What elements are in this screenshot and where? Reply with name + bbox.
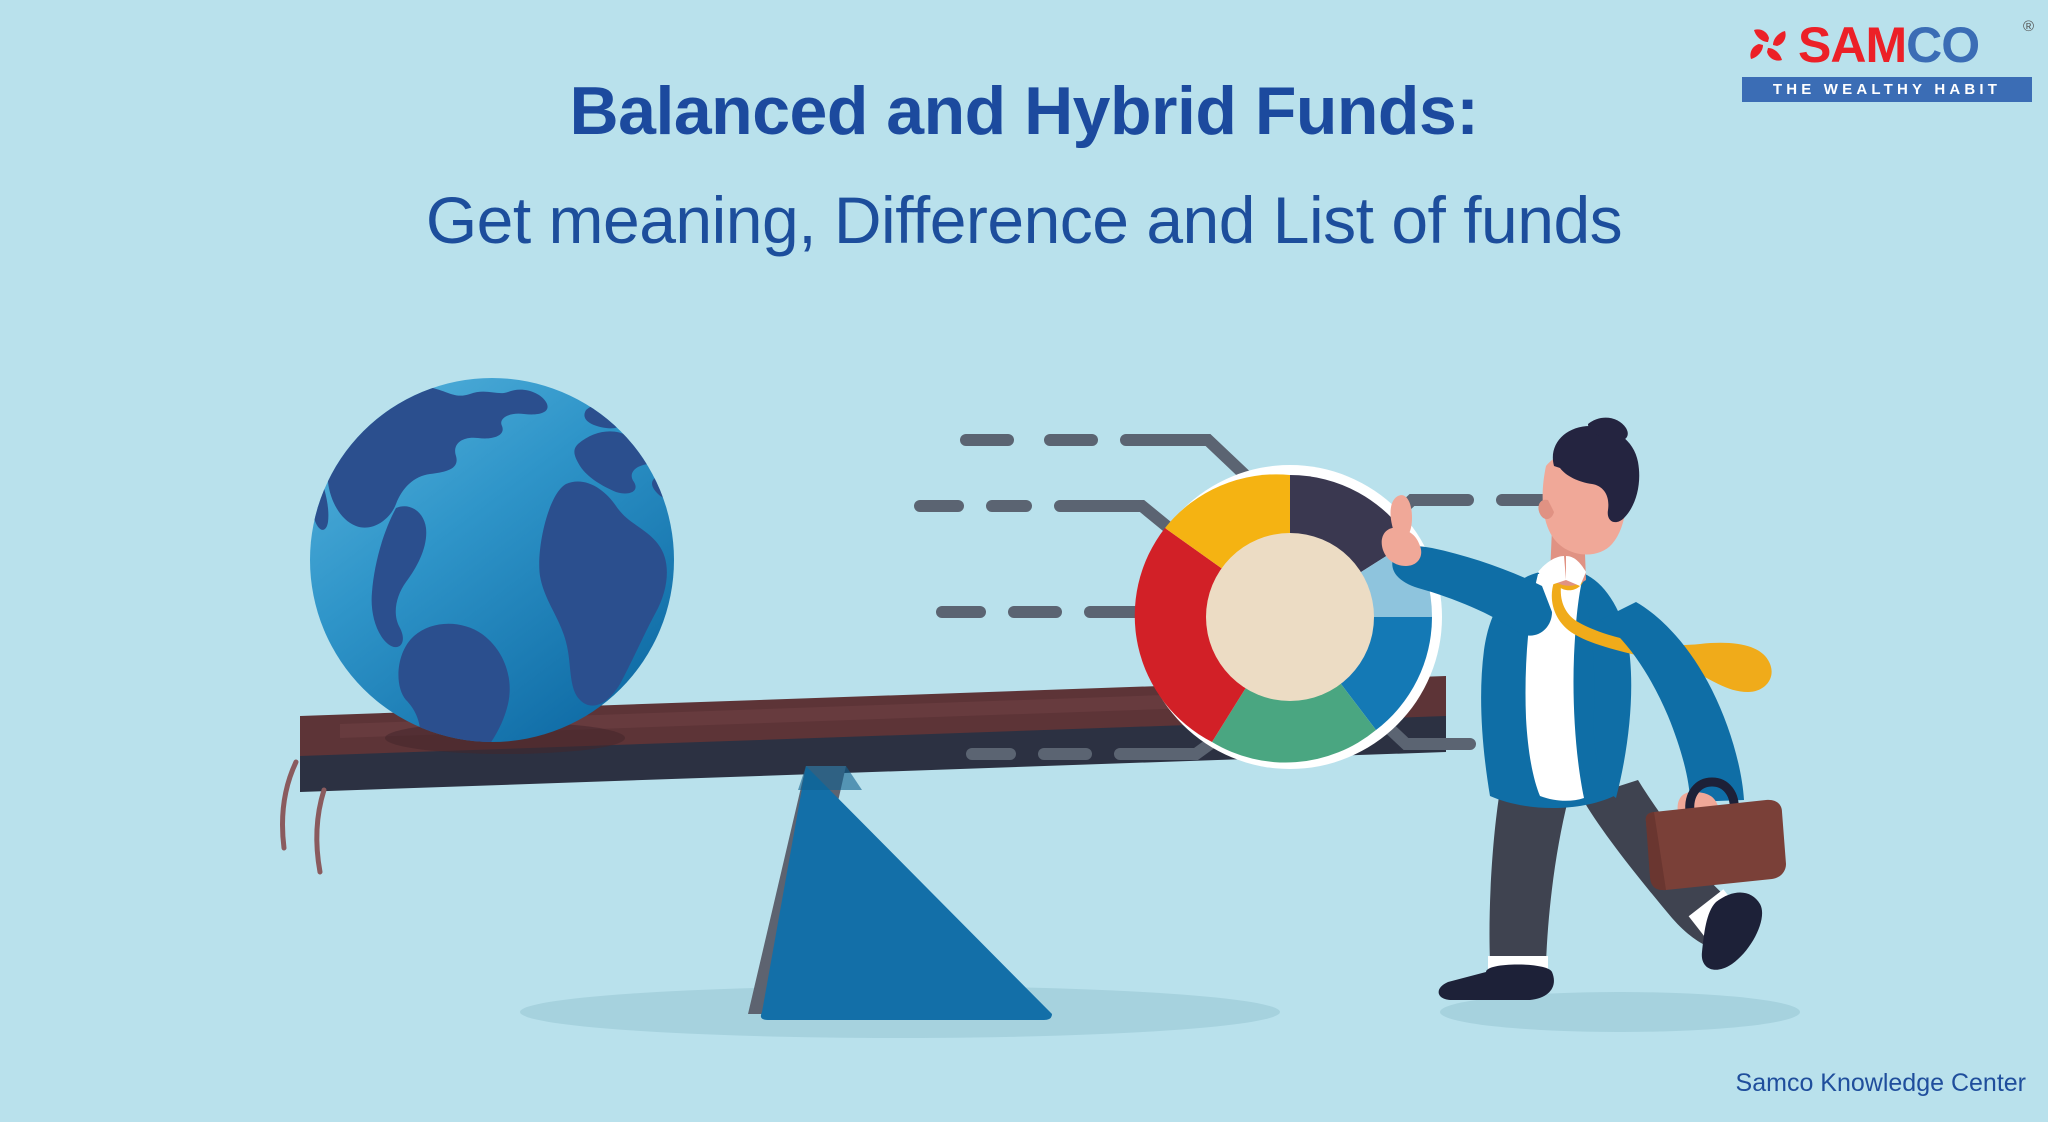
briefcase bbox=[1646, 800, 1786, 890]
leg-front bbox=[1489, 790, 1568, 964]
shoe-front bbox=[1439, 965, 1554, 1001]
leader-line-top-left bbox=[966, 440, 1246, 476]
poster-canvas: SAMCO ® THE WEALTHY HABIT Balanced and H… bbox=[0, 0, 2048, 1122]
donut-hub bbox=[1206, 533, 1374, 701]
leader-line-mid-left bbox=[920, 506, 1186, 542]
knowledge-center-credit: Samco Knowledge Center bbox=[1736, 1069, 2026, 1098]
fulcrum-front bbox=[761, 766, 1052, 1020]
hero-illustration bbox=[0, 0, 2048, 1122]
